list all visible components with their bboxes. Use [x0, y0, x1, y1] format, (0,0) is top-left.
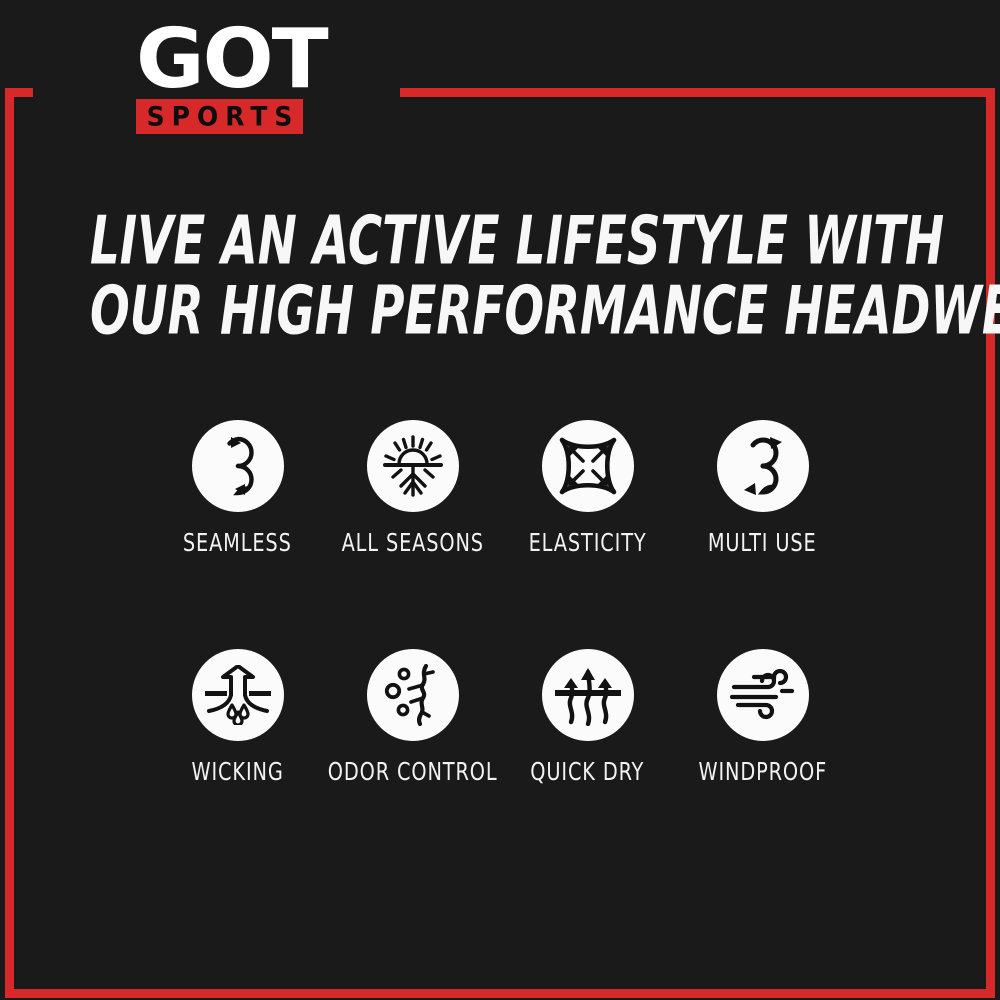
feature-all-seasons: ALL SEASONS	[325, 420, 500, 557]
feature-icon-badge	[542, 649, 634, 741]
frame-border-bottom	[5, 989, 995, 998]
feature-row-1: SEAMLESS	[150, 420, 850, 557]
feature-label: SEAMLESS	[183, 528, 292, 557]
feature-icon-badge	[367, 420, 459, 512]
brand-logo: GOT SPORTS	[136, 26, 316, 134]
sun-snowflake-icon	[381, 434, 445, 498]
feature-label: WINDPROOF	[698, 757, 827, 786]
frame-border-top-right	[400, 88, 995, 97]
feature-icon-badge	[367, 649, 459, 741]
brand-logo-word: GOT	[136, 26, 320, 93]
brand-logo-banner-text: SPORTS	[140, 101, 300, 132]
feature-icon-badge	[542, 420, 634, 512]
frame-border-top-left-stub	[5, 88, 33, 97]
feature-label: ALL SEASONS	[341, 528, 483, 557]
feature-grid: SEAMLESS	[150, 420, 850, 786]
odor-waves-bubbles-icon	[383, 664, 443, 726]
feature-icon-badge	[192, 649, 284, 741]
four-way-stretch-arrows-icon	[557, 435, 619, 497]
wind-curls-icon	[730, 669, 796, 721]
feature-label: ELASTICITY	[529, 528, 647, 557]
feature-icon-badge	[717, 420, 809, 512]
promo-graphic: GOT SPORTS LIVE AN ACTIVE LIFESTYLE WITH…	[0, 0, 1000, 1000]
two-cycle-arrows-icon	[732, 435, 794, 497]
headline: LIVE AN ACTIVE LIFESTYLE WITH OUR HIGH P…	[0, 206, 1000, 346]
feature-label: WICKING	[191, 757, 283, 786]
feature-multi-use: MULTI USE	[675, 420, 850, 557]
moisture-wicking-arrow-droplets-icon	[205, 665, 271, 725]
feature-seamless: SEAMLESS	[150, 420, 325, 557]
feature-label: MULTI USE	[708, 528, 817, 557]
seamless-loop-arrows-icon	[207, 435, 269, 497]
feature-wicking: WICKING	[150, 649, 325, 786]
feature-label: QUICK DRY	[531, 757, 645, 786]
feature-elasticity: ELASTICITY	[500, 420, 675, 557]
feature-windproof: WINDPROOF	[675, 649, 850, 786]
three-rising-arrows-icon	[555, 664, 621, 726]
brand-logo-banner: SPORTS	[136, 99, 303, 134]
feature-icon-badge	[192, 420, 284, 512]
feature-quick-dry: QUICK DRY	[500, 649, 675, 786]
feature-label: ODOR CONTROL	[328, 757, 498, 786]
headline-line-2: OUR HIGH PERFORMANCE HEADWEAR	[90, 270, 910, 353]
feature-icon-badge	[717, 649, 809, 741]
feature-odor-control: ODOR CONTROL	[325, 649, 500, 786]
feature-row-2: WICKING ODOR CONTROL	[150, 649, 850, 786]
